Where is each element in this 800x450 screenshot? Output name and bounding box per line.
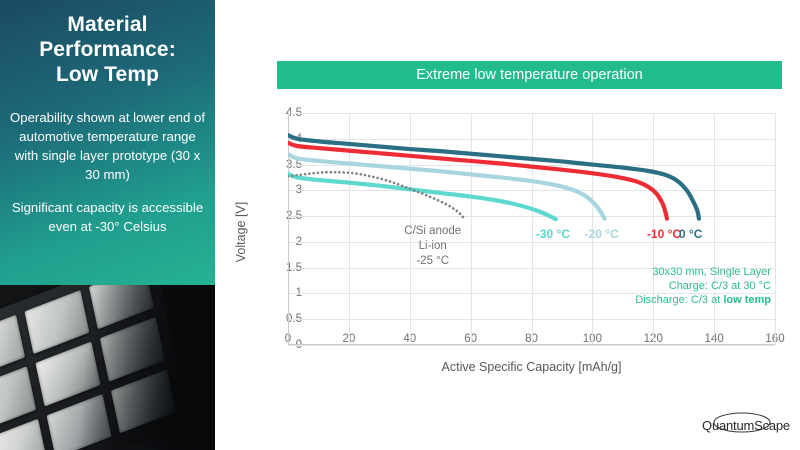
battery-cells-photo	[0, 285, 215, 450]
series-label-30c: -30 °C	[536, 227, 570, 241]
series-label-10c: -10 °C	[647, 227, 681, 241]
series-label-0c: 0 °C	[679, 227, 702, 241]
photo-vignette	[0, 285, 215, 450]
y-axis-title: Voltage [V]	[234, 162, 248, 302]
plot-wrapper: Voltage [V] Active Specific Capacity [mA…	[215, 95, 800, 395]
chart-region: Extreme low temperature operation Voltag…	[215, 0, 800, 450]
title-line-1: Material	[0, 12, 215, 37]
panel-body-text-secondary: Significant capacity is accessible even …	[6, 198, 209, 236]
title-line-3: Low Temp	[0, 62, 215, 87]
series-line	[288, 154, 605, 218]
gridline	[288, 345, 775, 346]
logo-wordmark: QuantumScape	[700, 418, 792, 433]
x-axis-title: Active Specific Capacity [mAh/g]	[288, 360, 775, 374]
li-ion-line-3: -25 °C	[404, 254, 461, 269]
discharge-bold: low temp	[723, 294, 771, 306]
conditions-line-3: Discharge: C/3 at low temp	[568, 293, 771, 307]
conditions-line-2: Charge: C/3 at 30 °C	[568, 279, 771, 293]
plot-area: 0 °C-10 °C-20 °C-30 °C C/Si anode Li-ion…	[288, 113, 775, 345]
panel-body-text-primary: Operability shown at lower end of automo…	[6, 108, 209, 184]
gridline	[775, 113, 776, 345]
left-info-panel: Material Performance: Low Temp Operabili…	[0, 0, 215, 450]
test-conditions-annotation: 30x30 mm, Single Layer Charge: C/3 at 30…	[568, 265, 771, 307]
li-ion-line-1: C/Si anode	[404, 224, 461, 239]
series-label-20c: -20 °C	[585, 227, 619, 241]
quantumscape-logo: QuantumScape	[700, 408, 792, 442]
page-title: Material Performance: Low Temp	[0, 12, 215, 87]
conditions-line-1: 30x30 mm, Single Layer	[568, 265, 771, 279]
chart-title-banner: Extreme low temperature operation	[277, 61, 782, 89]
title-line-2: Performance:	[0, 37, 215, 62]
chart-title-text: Extreme low temperature operation	[416, 67, 642, 83]
li-ion-annotation: C/Si anode Li-ion -25 °C	[404, 224, 461, 269]
li-ion-line-2: Li-ion	[404, 239, 461, 254]
discharge-prefix: Discharge: C/3 at	[635, 294, 723, 306]
